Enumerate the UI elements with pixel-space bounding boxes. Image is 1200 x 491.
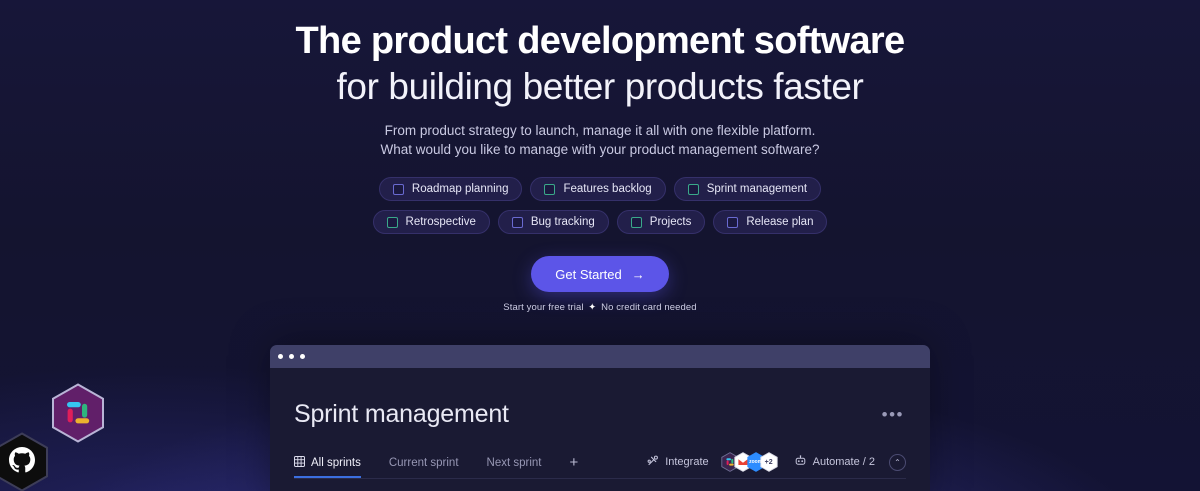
chip-label: Release plan — [746, 216, 813, 228]
tab-current-sprint[interactable]: Current sprint — [389, 457, 473, 476]
use-case-chip-group: Roadmap planning Features backlog Sprint… — [320, 177, 880, 234]
integrations-icon — [647, 455, 659, 470]
headline-line-2: for building better products faster — [0, 65, 1200, 109]
checkbox-icon[interactable] — [544, 184, 555, 195]
board-title: Sprint management — [294, 400, 509, 429]
trial-prefix: Start your free trial — [503, 302, 583, 313]
gmail-letter: M — [740, 459, 746, 466]
more-count-label: +2 — [765, 459, 773, 466]
tab-label: All sprints — [311, 457, 361, 469]
hero-subcopy: From product strategy to launch, manage … — [0, 121, 1200, 159]
window-titlebar — [270, 345, 930, 368]
chip-roadmap-planning[interactable]: Roadmap planning — [379, 177, 523, 201]
integrate-button[interactable]: Integrate — [647, 455, 708, 470]
floating-github-logo-icon — [0, 432, 49, 491]
window-dot-close[interactable] — [278, 354, 283, 359]
chip-label: Retrospective — [406, 216, 476, 228]
floating-slack-logo-icon — [51, 383, 105, 443]
collapse-chevron-up-icon[interactable]: ⌃ — [889, 454, 906, 471]
landing-page: The product development software for bui… — [0, 0, 1200, 491]
hero-section: The product development software for bui… — [0, 0, 1200, 313]
chip-label: Projects — [650, 216, 692, 228]
app-window-preview: Sprint management ••• — [270, 345, 930, 491]
tab-label: Next sprint — [487, 457, 542, 469]
integrate-label: Integrate — [665, 456, 708, 468]
checkbox-icon[interactable] — [688, 184, 699, 195]
add-tab-button[interactable]: + — [570, 454, 585, 478]
tab-label: Current sprint — [389, 457, 459, 469]
tab-bar: All sprints Current sprint Next sprint + — [294, 451, 906, 479]
trial-note: Start your free trial ✦ No credit card n… — [0, 302, 1200, 313]
chip-label: Bug tracking — [531, 216, 595, 228]
grid-table-icon — [294, 456, 305, 470]
chip-label: Roadmap planning — [412, 183, 509, 195]
chip-bug-tracking[interactable]: Bug tracking — [498, 210, 609, 234]
arrow-right-icon: → — [632, 268, 645, 281]
checkbox-icon[interactable] — [512, 217, 523, 228]
sparkle-icon: ✦ — [588, 302, 596, 313]
automate-button[interactable]: Automate / 2 — [794, 455, 875, 469]
chip-retrospective[interactable]: Retrospective — [373, 210, 490, 234]
tab-list: All sprints Current sprint Next sprint + — [294, 454, 584, 478]
tab-all-sprints[interactable]: All sprints — [294, 456, 375, 477]
chip-sprint-management[interactable]: Sprint management — [674, 177, 821, 201]
integration-more-count[interactable]: +2 — [760, 452, 778, 472]
cta-area: Get Started → Start your free trial ✦ No… — [0, 256, 1200, 313]
chip-label: Features backlog — [563, 183, 651, 195]
chip-release-plan[interactable]: Release plan — [713, 210, 827, 234]
chip-projects[interactable]: Projects — [617, 210, 706, 234]
automate-label: Automate / 2 — [813, 456, 875, 468]
subcopy-line-2: What would you like to manage with your … — [0, 140, 1200, 159]
window-header: Sprint management ••• — [294, 368, 906, 429]
headline-line-1: The product development software — [296, 20, 905, 62]
subcopy-line-1: From product strategy to launch, manage … — [0, 121, 1200, 140]
trial-suffix: No credit card needed — [601, 302, 697, 313]
get-started-button[interactable]: Get Started → — [531, 256, 668, 292]
checkbox-icon[interactable] — [727, 217, 738, 228]
window-dot-minimize[interactable] — [289, 354, 294, 359]
window-dot-maximize[interactable] — [300, 354, 305, 359]
page-title: The product development software for bui… — [0, 20, 1200, 109]
overflow-menu-icon[interactable]: ••• — [880, 406, 906, 424]
checkbox-icon[interactable] — [631, 217, 642, 228]
checkbox-icon[interactable] — [387, 217, 398, 228]
zoom-label: zoom — [749, 460, 762, 465]
integration-avatar-stack[interactable]: M zoom +2 — [721, 452, 778, 472]
robot-icon — [794, 455, 807, 469]
checkbox-icon[interactable] — [393, 184, 404, 195]
chip-label: Sprint management — [707, 183, 807, 195]
chip-features-backlog[interactable]: Features backlog — [530, 177, 665, 201]
window-body: Sprint management ••• — [270, 368, 930, 491]
tab-bar-actions: Integrate — [647, 452, 906, 478]
tab-next-sprint[interactable]: Next sprint — [487, 457, 556, 476]
get-started-label: Get Started — [555, 267, 621, 282]
